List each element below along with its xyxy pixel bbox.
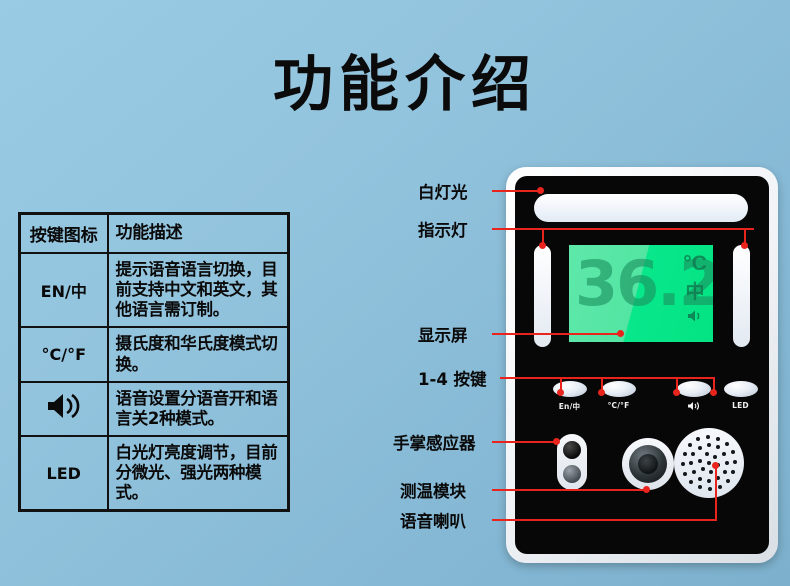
speaker-icon — [44, 391, 84, 426]
leader-voice-speaker-rise — [715, 465, 717, 520]
speaker-grille-hole — [725, 442, 729, 446]
palm-sensor — [557, 434, 587, 490]
voice-speaker-grille — [674, 428, 744, 498]
device-shell: 36.2 °C 中 En/中 °C/°F — [506, 167, 778, 563]
row-icon-language: EN/中 — [20, 253, 108, 327]
leader-dot-temperature-module — [643, 486, 650, 493]
annotation-white-light: 白灯光 — [418, 179, 468, 203]
device-body: 36.2 °C 中 En/中 °C/°F — [515, 176, 769, 554]
feature-table: 按键图标 功能描述 EN/中 提示语音语言切换，目前支持中文和英文，其他语言需订… — [18, 212, 290, 512]
lcd-speaker-icon — [683, 309, 707, 326]
speaker-grille-hole — [723, 470, 727, 474]
button-row: En/中 °C/°F LED — [541, 381, 761, 413]
temperature-lens-inner — [638, 454, 658, 474]
palm-sensor-lens-bottom — [563, 465, 581, 483]
white-light-bar — [534, 194, 748, 222]
speaker-grille-hole — [698, 446, 702, 450]
annotation-indicator-lamp: 指示灯 — [418, 217, 468, 241]
speaker-grille-hole — [716, 437, 720, 441]
speaker-grille-hole — [707, 443, 711, 447]
speaker-grille-hole — [688, 443, 692, 447]
speaker-grille-hole — [698, 485, 702, 489]
speaker-grille-hole — [698, 477, 702, 481]
temperature-module — [622, 438, 674, 490]
leader-dot-indicator-left — [539, 242, 546, 249]
annotation-palm-sensor: 手掌感应器 — [393, 430, 476, 454]
leader-dot-button4 — [710, 389, 717, 396]
speaker-grille-hole — [692, 470, 696, 474]
language-button[interactable]: En/中 — [549, 381, 590, 413]
speaker-grille-hole — [707, 479, 711, 483]
unit-button-cap[interactable] — [602, 381, 636, 397]
leader-dot-button1 — [557, 389, 564, 396]
volume-button-cap[interactable] — [677, 381, 711, 397]
speaker-grille-hole — [722, 452, 726, 456]
row-desc-speaker: 语音设置分语音开和语言关2种模式。 — [108, 382, 289, 436]
led-button-cap[interactable] — [724, 381, 758, 397]
speaker-grille-hole — [706, 435, 710, 439]
speaker-grille-hole — [696, 437, 700, 441]
speaker-grille-hole — [683, 472, 687, 476]
speaker-grille-hole — [681, 462, 685, 466]
leader-dot-white-light — [537, 187, 544, 194]
speaker-grille-hole — [701, 467, 705, 471]
leader-dot-button3 — [673, 389, 680, 396]
column-header-function-desc: 功能描述 — [108, 214, 289, 254]
volume-button-icon — [673, 401, 714, 413]
lcd-unit-label: °C — [683, 253, 707, 274]
annotation-display-screen: 显示屏 — [418, 322, 468, 346]
speaker-grille-hole — [689, 480, 693, 484]
speaker-grille-hole — [698, 459, 702, 463]
speaker-grille-hole — [731, 450, 735, 454]
led-button-label: LED — [720, 401, 761, 410]
speaker-grille-hole — [689, 461, 693, 465]
lcd-display: 36.2 °C 中 — [569, 245, 713, 342]
leader-dot-indicator-right — [741, 242, 748, 249]
speaker-grille-hole — [707, 461, 711, 465]
volume-button[interactable] — [673, 381, 714, 413]
table-row: °C/°F 摄氏度和华氏度模式切换。 — [20, 327, 289, 381]
leader-temperature-module — [492, 489, 647, 491]
row-desc-led: 白光灯亮度调节，目前分微光、强光两种模式。 — [108, 436, 289, 511]
temperature-lens-outer — [629, 445, 667, 483]
palm-sensor-lens-top — [563, 441, 581, 459]
row-icon-led: LED — [20, 436, 108, 511]
leader-display-screen — [492, 333, 620, 335]
speaker-grille-hole — [705, 452, 709, 456]
indicator-lamp-left — [534, 245, 551, 347]
column-header-key-icon: 按键图标 — [20, 214, 108, 254]
leader-palm-sensor — [492, 441, 557, 443]
speaker-grille-hole — [716, 445, 720, 449]
led-button[interactable]: LED — [720, 381, 761, 413]
row-icon-unit: °C/°F — [20, 327, 108, 381]
speaker-grille-hole — [709, 470, 713, 474]
leader-dot-voice-speaker — [712, 462, 719, 469]
leader-dot-button2 — [598, 389, 605, 396]
language-button-label: En/中 — [549, 401, 590, 412]
speaker-grille-hole — [726, 479, 730, 483]
leader-buttons-1-4 — [500, 377, 714, 379]
annotation-buttons-1-4: 1-4 按键 — [418, 366, 487, 390]
speaker-grille-hole — [725, 461, 729, 465]
speaker-grille-hole — [718, 485, 722, 489]
speaker-grille-hole — [713, 455, 717, 459]
leader-voice-speaker — [492, 519, 717, 521]
table-row: EN/中 提示语音语言切换，目前支持中文和英文，其他语言需订制。 — [20, 253, 289, 327]
speaker-grille-hole — [731, 470, 735, 474]
page-title: 功能介绍 — [0, 36, 790, 123]
lcd-language-label: 中 — [683, 283, 707, 302]
leader-dot-display-screen — [617, 330, 624, 337]
unit-button[interactable]: °C/°F — [598, 381, 639, 413]
indicator-lamp-right — [733, 245, 750, 347]
row-desc-language: 提示语音语言切换，目前支持中文和英文，其他语言需订制。 — [108, 253, 289, 327]
table-row: LED 白光灯亮度调节，目前分微光、强光两种模式。 — [20, 436, 289, 511]
annotation-temperature-module: 测温模块 — [400, 478, 466, 502]
leader-dot-palm-sensor — [553, 438, 560, 445]
unit-button-label: °C/°F — [598, 401, 639, 410]
speaker-grille-hole — [733, 460, 737, 464]
speaker-grille-hole — [708, 487, 712, 491]
annotation-voice-speaker: 语音喇叭 — [400, 508, 466, 532]
table-row: 语音设置分语音开和语言关2种模式。 — [20, 382, 289, 436]
leader-indicator-lamp — [492, 228, 754, 230]
table-header-row: 按键图标 功能描述 — [20, 214, 289, 254]
row-desc-unit: 摄氏度和华氏度模式切换。 — [108, 327, 289, 381]
speaker-grille-hole — [683, 452, 687, 456]
speaker-grille-hole — [691, 452, 695, 456]
lcd-status-column: °C 中 — [683, 253, 707, 326]
leader-white-light — [492, 190, 541, 192]
row-icon-speaker — [20, 382, 108, 436]
